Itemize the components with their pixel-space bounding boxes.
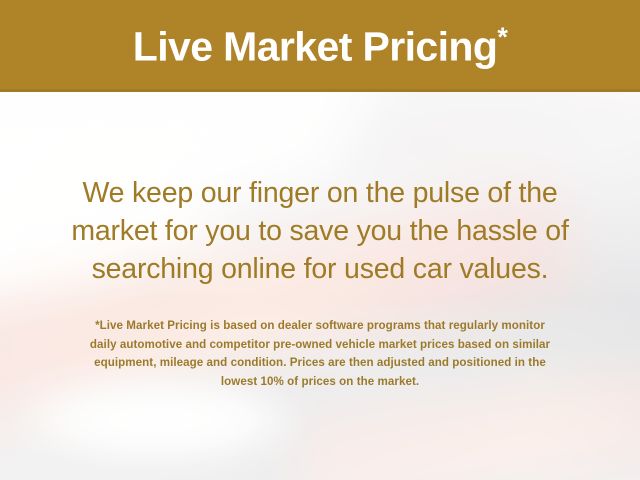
fineprint-line-2: daily automotive and competitor pre-owne… <box>28 336 612 355</box>
banner-title-asterisk: * <box>497 22 507 52</box>
headline-line-3: searching online for used car values. <box>22 250 618 288</box>
header-band: Live Market Pricing* <box>0 0 640 92</box>
banner-title-text: Live Market Pricing <box>133 24 498 70</box>
banner-title: Live Market Pricing* <box>133 24 508 68</box>
banner-content: We keep our finger on the pulse of the m… <box>0 92 640 480</box>
headline-line-2: market for you to save you the hassle of <box>22 212 618 250</box>
headline-line-1: We keep our finger on the pulse of the <box>22 174 618 212</box>
fineprint-disclaimer: *Live Market Pricing is based on dealer … <box>28 317 612 391</box>
fineprint-line-1: *Live Market Pricing is based on dealer … <box>28 317 612 336</box>
live-market-pricing-banner: Live Market Pricing* We keep our finger … <box>0 0 640 480</box>
fineprint-line-3: equipment, mileage and condition. Prices… <box>28 354 612 373</box>
headline-block: We keep our finger on the pulse of the m… <box>22 174 618 288</box>
fineprint-line-4: lowest 10% of prices on the market. <box>28 373 612 392</box>
